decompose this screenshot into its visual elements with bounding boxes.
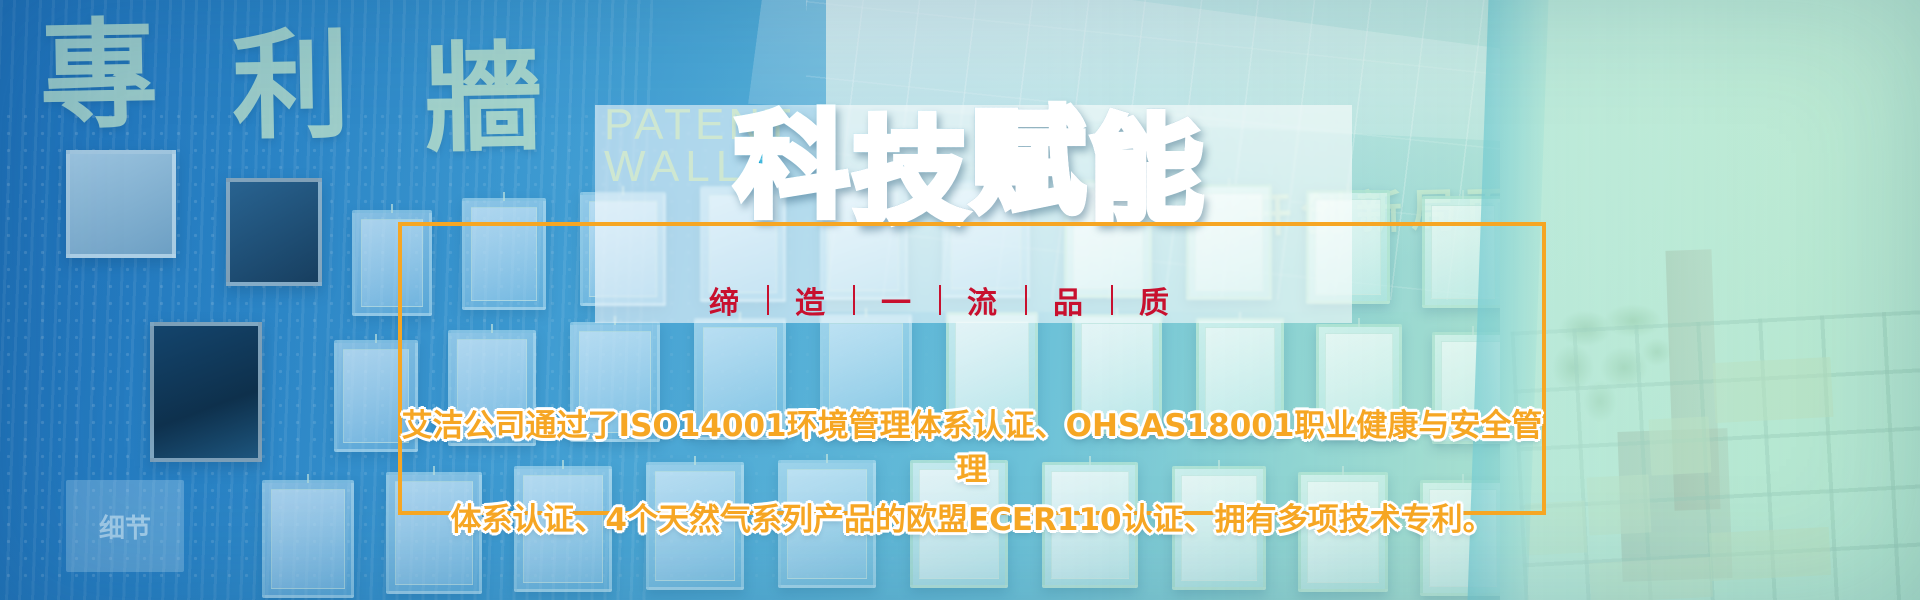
headline-text: 科 技 赋 能 [735, 104, 1203, 235]
slogan-separator-icon [767, 285, 769, 315]
slogan-char-3: 一 [881, 278, 913, 322]
headline-char-4: 能 [1089, 108, 1203, 235]
slogan-char-1: 缔 [709, 278, 741, 322]
body-line-2: 体系认证、4个天然气系列产品的欧盟ECER110认证、拥有多项技术专利。 [398, 498, 1546, 542]
slogan-char-4: 流 [967, 278, 999, 322]
slogan-separator-icon [939, 285, 941, 315]
sub-slogan: 缔 造 一 流 品 质 [709, 278, 1171, 322]
slogan-separator-icon [1025, 285, 1027, 315]
patent-wall-banner: 專 利 牆 开创新局面 [0, 0, 1920, 600]
slogan-char-6: 质 [1139, 278, 1171, 322]
headline-char-1: 科 [735, 104, 849, 235]
headline-char-3: 赋 [971, 100, 1085, 235]
slogan-char-2: 造 [795, 278, 827, 322]
slogan-char-5: 品 [1053, 278, 1085, 322]
body-line-1: 艾洁公司通过了ISO14001环境管理体系认证、OHSAS18001职业健康与安… [398, 404, 1546, 492]
slogan-separator-icon [853, 285, 855, 315]
slogan-separator-icon [1111, 285, 1113, 315]
headline-char-2: 技 [853, 110, 967, 235]
body-paragraph: 艾洁公司通过了ISO14001环境管理体系认证、OHSAS18001职业健康与安… [398, 404, 1546, 542]
